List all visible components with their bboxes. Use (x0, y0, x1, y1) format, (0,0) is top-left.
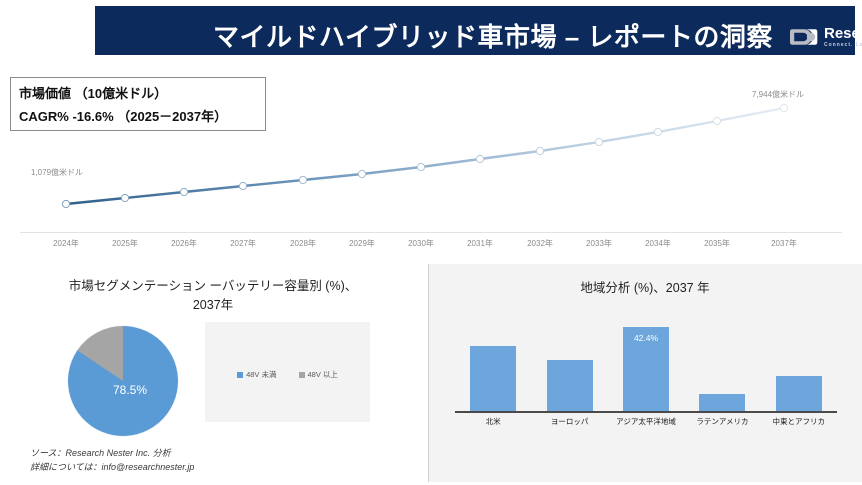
logo-name: Research Nester (824, 26, 862, 41)
page-title: マイルドハイブリッド車市場 – レポートの洞察 (213, 20, 773, 54)
bar-chart-category-axis: 北米ヨーロッパアジア太平洋地域ラテンアメリカ中東とアフリカ (455, 416, 837, 430)
year-tick-2037年: 2037年 (771, 238, 797, 249)
footer-contact: 詳細については：info@researchnester.jp (30, 460, 430, 474)
year-tick-2029年: 2029年 (349, 238, 375, 249)
pie-chart-title: 市場セグメンテーション ーバッテリー容量別 (%)、 2037年 (18, 277, 408, 315)
bar-北米[interactable] (470, 346, 516, 412)
year-tick-2024年: 2024年 (53, 238, 79, 249)
bar-ヨーロッパ[interactable] (547, 360, 593, 412)
battery-capacity-pie-chart (58, 322, 188, 440)
bar-column-ラテンアメリカ (699, 394, 745, 412)
category-tick-アジア太平洋地域: アジア太平洋地域 (616, 416, 676, 427)
bar-chart-axis (455, 411, 837, 413)
category-tick-ラテンアメリカ: ラテンアメリカ (696, 416, 748, 427)
line-chart-year-axis: 2024年2025年2026年2027年2028年2029年2030年2031年… (20, 238, 842, 254)
category-tick-北米: 北米 (486, 416, 501, 427)
legend-label: 48V 未満 (246, 369, 276, 380)
pie-legend: 48V 未満 48V 以上 (205, 369, 370, 380)
bar-column-ヨーロッパ (547, 360, 593, 412)
year-tick-2035年: 2035年 (704, 238, 730, 249)
legend-swatch-icon (299, 372, 305, 378)
chain-link-icon (790, 26, 818, 48)
year-tick-2032年: 2032年 (527, 238, 553, 249)
header-band: マイルドハイブリッド車市場 – レポートの洞察 Research Nester … (95, 6, 855, 55)
logo-text-block: Research Nester Connect. Lead. Accomplis… (824, 26, 862, 49)
year-tick-2027年: 2027年 (230, 238, 256, 249)
bar-アジア太平洋地域[interactable]: 42.4% (623, 327, 669, 412)
line-chart-axis (20, 232, 842, 233)
year-tick-2025年: 2025年 (112, 238, 138, 249)
line-chart-svg (0, 60, 862, 255)
category-tick-ヨーロッパ: ヨーロッパ (551, 416, 589, 427)
brand-logo: Research Nester Connect. Lead. Accomplis… (790, 20, 862, 54)
year-tick-2030年: 2030年 (408, 238, 434, 249)
pie-chart-svg (58, 322, 188, 440)
end-value-label: 7,944億米ドル (752, 89, 804, 100)
year-tick-2026年: 2026年 (171, 238, 197, 249)
trend-line (66, 108, 784, 204)
year-tick-2031年: 2031年 (467, 238, 493, 249)
market-value-line-chart (0, 60, 862, 255)
pie-chart-title-line2: 2037年 (193, 298, 233, 312)
footer-source: ソース：Research Nester Inc. 分析 (30, 446, 430, 460)
infographic-page: マイルドハイブリッド車市場 – レポートの洞察 Research Nester … (0, 0, 862, 485)
bar-value-label: 42.4% (623, 333, 669, 343)
bar-ラテンアメリカ[interactable] (699, 394, 745, 412)
bar-column-中東とアフリカ (776, 376, 822, 412)
legend-item-over-48v[interactable]: 48V 以上 (299, 369, 338, 380)
region-chart-title: 地域分析 (%)、2037 年 (440, 277, 850, 296)
category-tick-中東とアフリカ: 中東とアフリカ (773, 416, 826, 427)
year-tick-2033年: 2033年 (586, 238, 612, 249)
pie-value-label: 78.5% (113, 383, 147, 397)
legend-item-under-48v[interactable]: 48V 未満 (237, 369, 276, 380)
bar-column-アジア太平洋地域: 42.4% (623, 327, 669, 412)
pie-chart-title-line1: 市場セグメンテーション ーバッテリー容量別 (%)、 (69, 279, 358, 293)
logo-tagline: Connect. Lead. Accomplish (824, 41, 862, 49)
year-tick-2034年: 2034年 (645, 238, 671, 249)
bar-中東とアフリカ[interactable] (776, 376, 822, 412)
legend-swatch-icon (237, 372, 243, 378)
legend-label: 48V 以上 (308, 369, 338, 380)
year-tick-2028年: 2028年 (290, 238, 316, 249)
start-value-label: 1,079億米ドル (31, 167, 83, 178)
bar-column-北米 (470, 346, 516, 412)
region-bar-chart: 42.4% (455, 312, 837, 412)
footer: ソース：Research Nester Inc. 分析 詳細については：info… (30, 446, 430, 474)
